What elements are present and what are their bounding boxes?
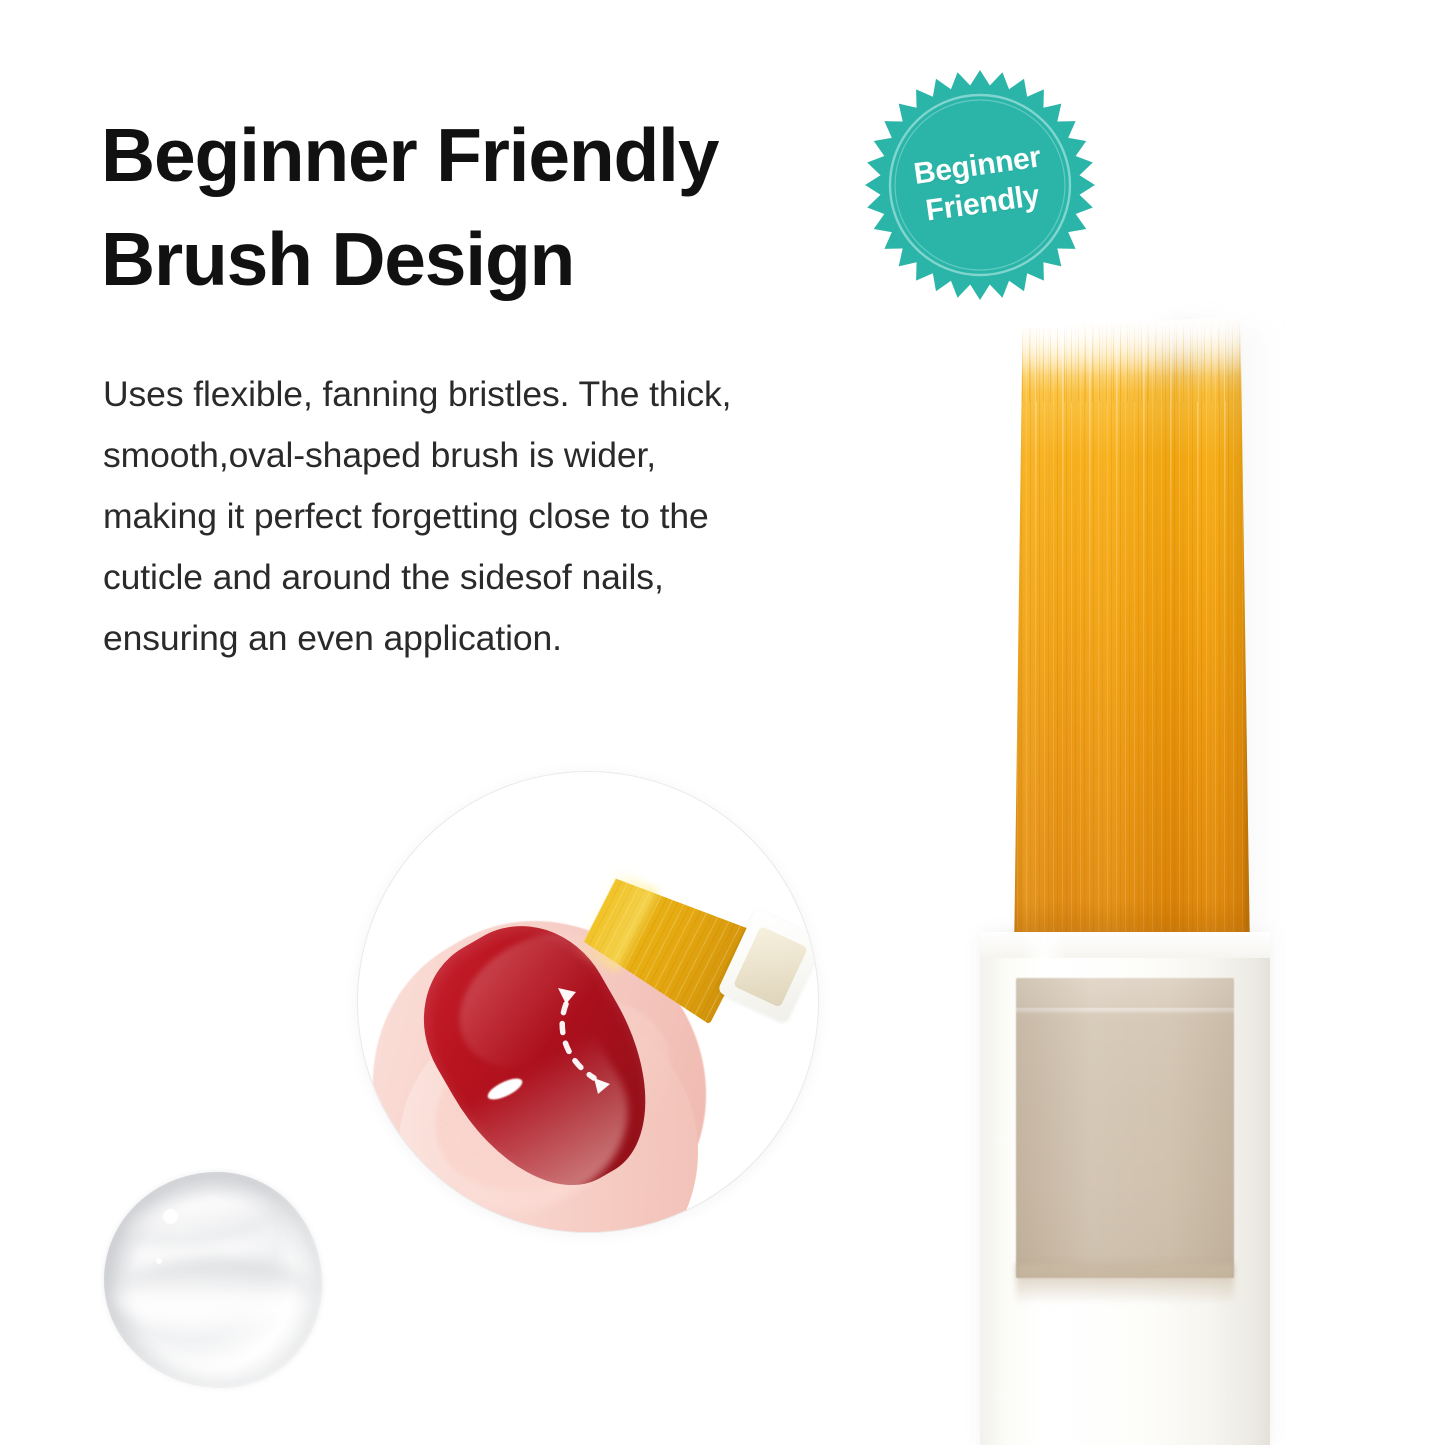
beginner-friendly-badge: Beginner Friendly: [864, 62, 1096, 308]
bristle-left-edge: [1008, 316, 1017, 956]
droplet-highlight-large: [163, 1209, 178, 1224]
description-line-5: ensuring an even application.: [103, 608, 903, 669]
page-title-line-2: Brush Design: [101, 208, 861, 312]
bristle-tip-hairs: [1008, 316, 1250, 402]
product-brush-image: [930, 300, 1330, 1445]
description-line-3: making it perfect forgetting close to th…: [103, 486, 903, 547]
description-line-1: Uses flexible, fanning bristles. The thi…: [103, 364, 903, 425]
description-line-2: smooth,oval-shaped brush is wider,: [103, 425, 903, 486]
core-bottom-fade: [1016, 1264, 1234, 1304]
description-paragraph: Uses flexible, fanning bristles. The thi…: [103, 364, 903, 669]
page-title: Beginner Friendly Brush Design: [101, 104, 861, 311]
nail-application-inset: [358, 772, 818, 1232]
core-shading: [1016, 978, 1234, 1278]
droplet-rim: [104, 1172, 322, 1388]
description-line-4: cuticle and around the sidesof nails,: [103, 547, 903, 608]
water-droplet: [104, 1172, 322, 1388]
product-feature-card: Beginner Friendly Brush Design Uses flex…: [0, 0, 1445, 1445]
page-title-line-1: Beginner Friendly: [101, 104, 861, 208]
motion-arrow-icon: [358, 772, 818, 1232]
starburst-icon: [864, 62, 1096, 308]
brush-bristles: [1008, 316, 1250, 956]
handle-inner-core: [1016, 978, 1234, 1278]
inset-photo: [358, 772, 818, 1232]
